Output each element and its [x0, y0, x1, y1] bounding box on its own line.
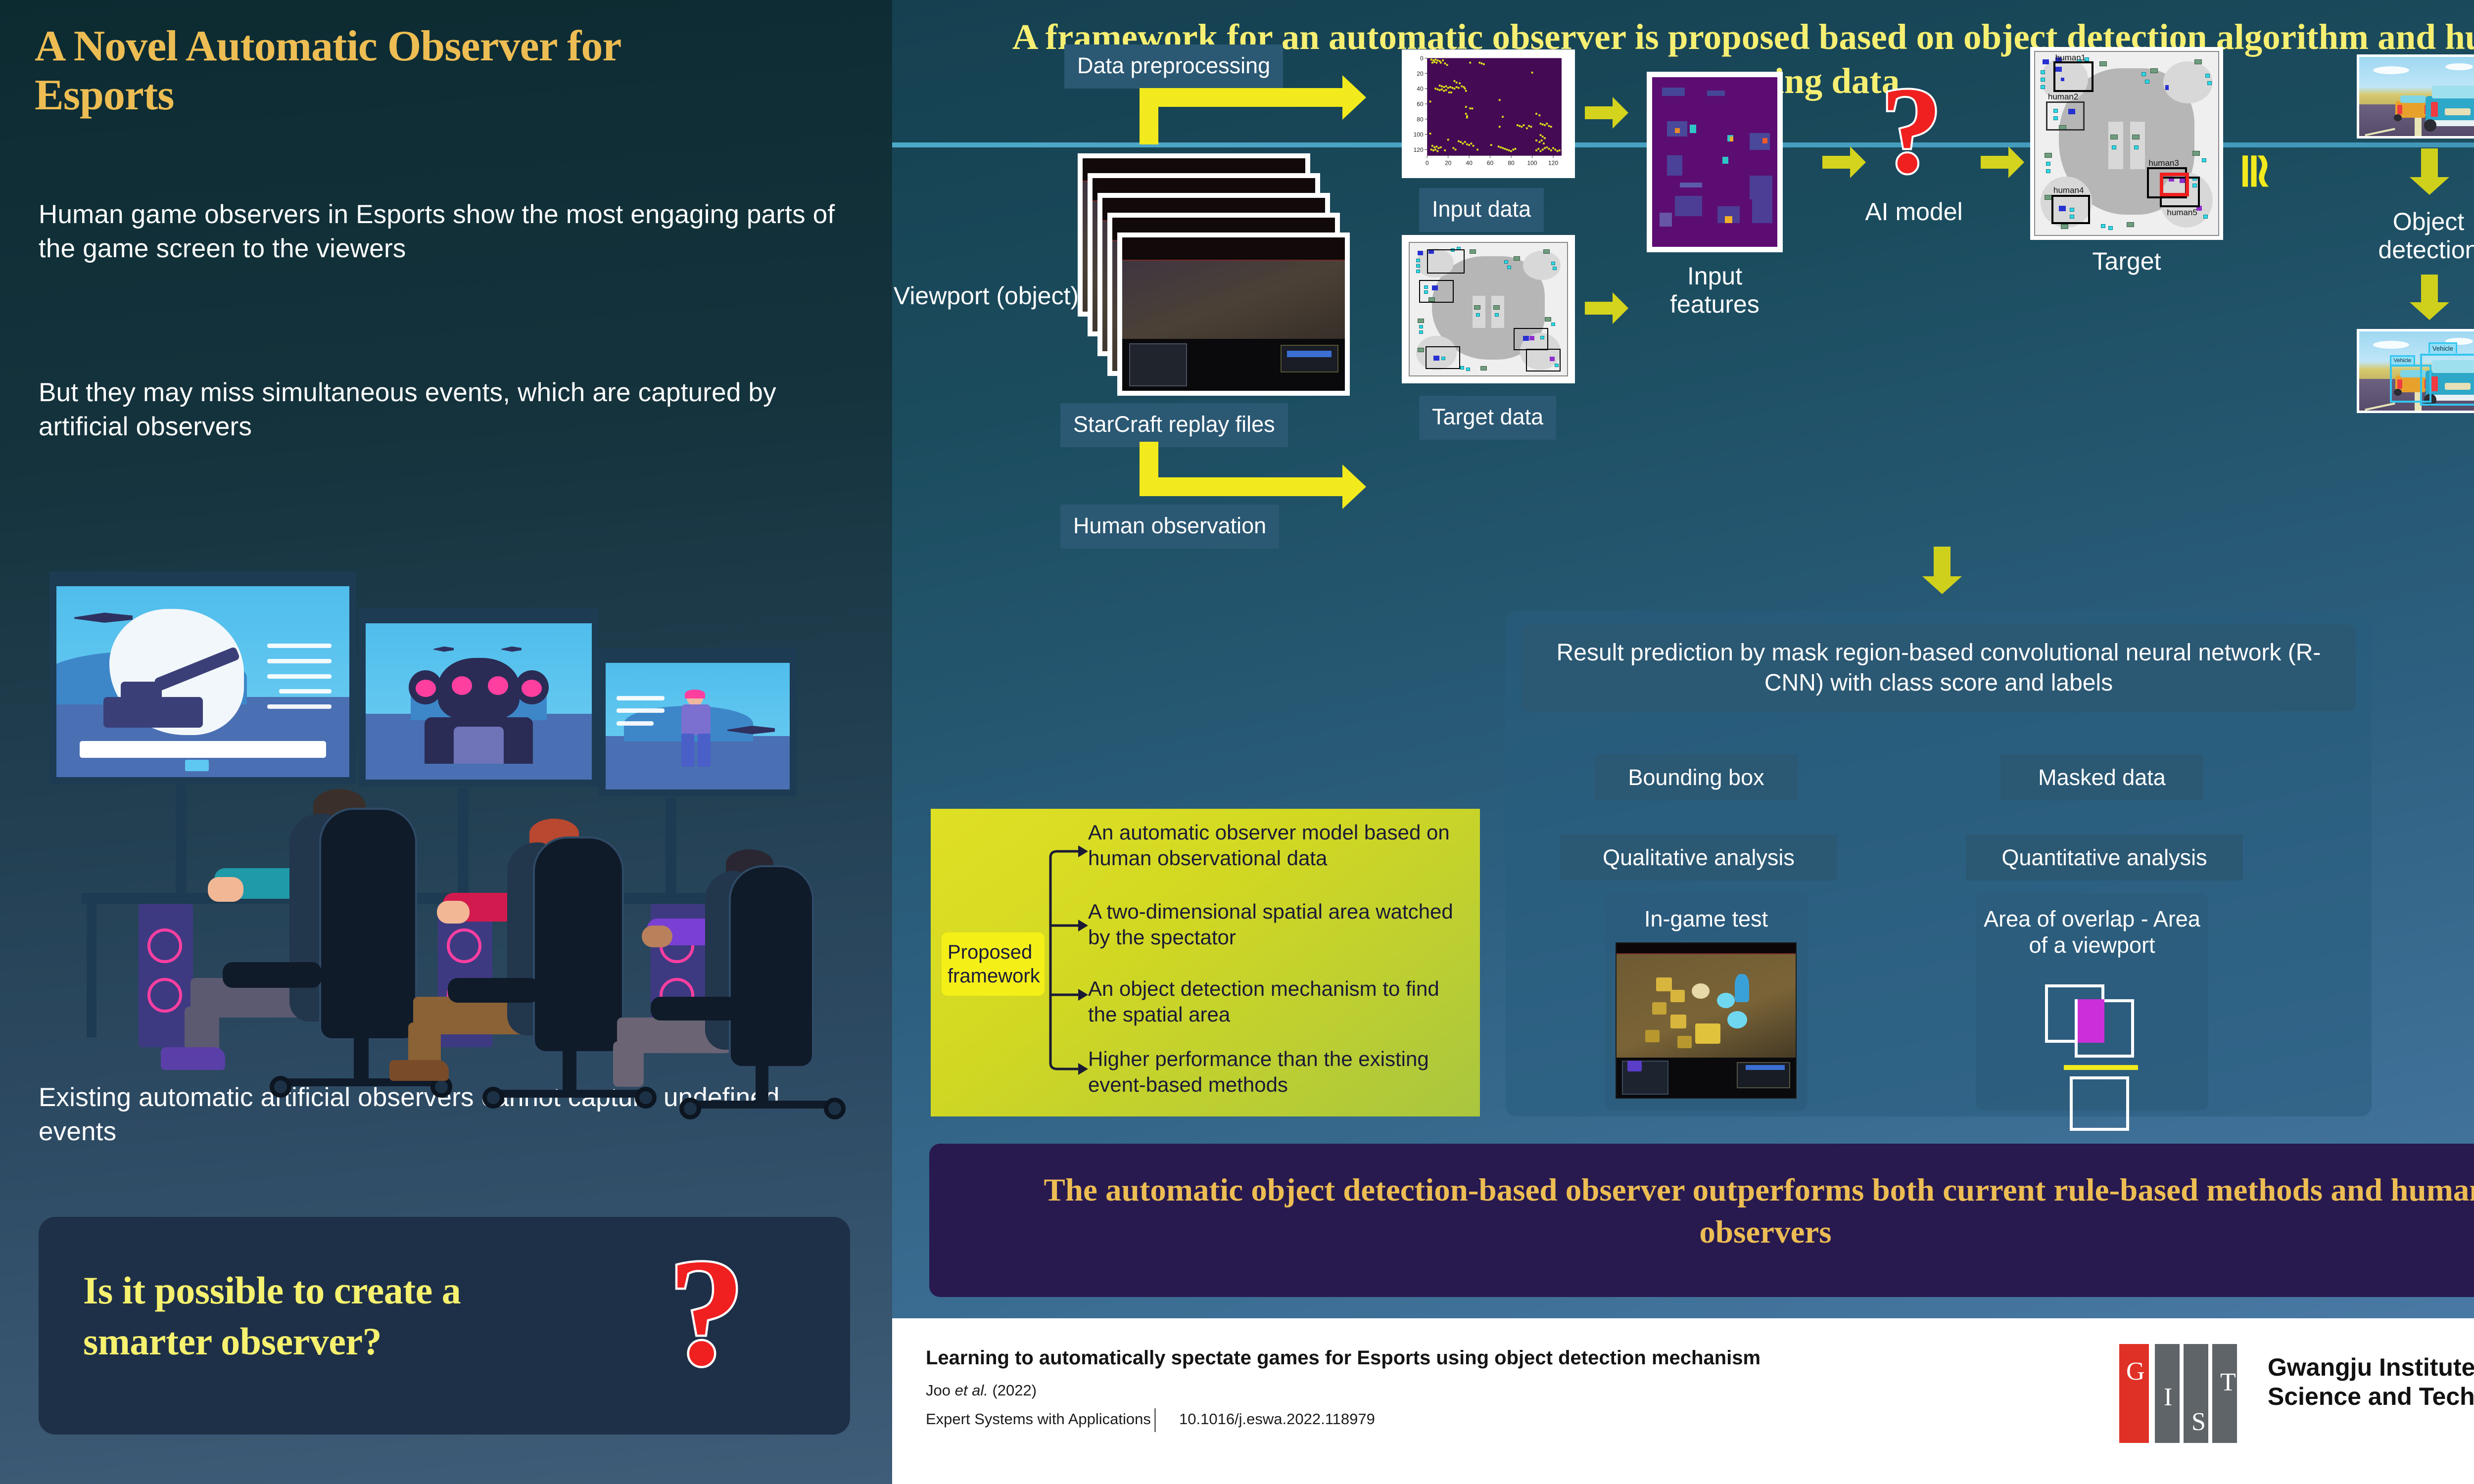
- author-year: (2022): [992, 1382, 1037, 1399]
- detection-box-large: [2420, 354, 2474, 406]
- conclusion-text: The automatic object detection-based obs…: [989, 1169, 2474, 1253]
- left-panel: A Novel Automatic Observer for Esports H…: [0, 0, 892, 1484]
- fraction-bar: [2064, 1065, 2138, 1070]
- arrow-object-detection-1: [2421, 148, 2438, 178]
- page-title: A Novel Automatic Observer for Esports: [35, 22, 678, 120]
- footer: Learning to automatically spectate games…: [892, 1318, 2474, 1484]
- svg-text:100: 100: [1527, 159, 1537, 166]
- chip-masked-data: Masked data: [2000, 754, 2203, 800]
- object-detection-label: Object detection: [2347, 208, 2474, 264]
- svg-text:60: 60: [1487, 159, 1494, 166]
- svg-text:0: 0: [1420, 55, 1424, 62]
- monitor-stand: [176, 784, 187, 893]
- left-paragraph-1: Human game observers in Esports show the…: [39, 198, 835, 266]
- bbox-human1: [2053, 61, 2093, 93]
- arrow-object-detection-2: [2421, 275, 2438, 303]
- journal-name: Expert Systems with Applications: [926, 1410, 1151, 1428]
- framework-item-2: A two-dimensional spatial area watched b…: [1088, 899, 1469, 950]
- in-game-test-panel: In-game test: [1605, 893, 1808, 1111]
- input-data-scatter-plot: 020406080100120 020406080100120: [1407, 54, 1570, 174]
- human-observation-label: Human observation: [1060, 505, 1279, 549]
- result-headline: Result prediction by mask region-based c…: [1522, 625, 2356, 711]
- target-label-human4: human4: [2053, 185, 2084, 195]
- svg-text:80: 80: [1417, 116, 1424, 123]
- input-features-frame: [1647, 72, 1783, 252]
- bbox-prediction-highlight: [2160, 173, 2189, 196]
- paper-authors: Joo et al. (2022): [926, 1382, 1037, 1399]
- arrow-to-ai-model: [1822, 156, 1851, 169]
- arrow-to-input-features-top: [1585, 106, 1614, 119]
- gist-logo-letter-s: S: [2191, 1407, 2206, 1437]
- target-label-human3: human3: [2148, 158, 2179, 168]
- gist-logo-letter-t: T: [2220, 1368, 2236, 1397]
- game-screen-3: [599, 648, 797, 796]
- svg-text:40: 40: [1417, 86, 1424, 93]
- desk-leg-left: [87, 904, 96, 1037]
- target-minimap: human1 human2 human3 human5 human4: [2034, 51, 2219, 236]
- ai-model-question-mark-icon: ?: [1877, 82, 1946, 195]
- svg-text:100: 100: [1414, 131, 1424, 138]
- question-callout: Is it possible to create a smarter obser…: [39, 1217, 850, 1435]
- author-etal: et al.: [955, 1382, 988, 1399]
- target-label-human1: human1: [2055, 53, 2086, 63]
- target-label-human2: human2: [2048, 92, 2078, 102]
- approximately-equal-icon: ≅: [2228, 151, 2283, 191]
- esports-illustration: [12, 552, 868, 1036]
- result-prediction-card: Result prediction by mask region-based c…: [1506, 611, 2372, 1116]
- conclusion-banner: The automatic object detection-based obs…: [929, 1144, 2474, 1297]
- svg-text:?: ?: [668, 1252, 745, 1396]
- proposed-framework-box: Proposed framework An automatic observer…: [931, 809, 1480, 1116]
- target-data-frame: [1402, 235, 1575, 383]
- svg-text:20: 20: [1445, 159, 1452, 166]
- target-frame: human1 human2 human3 human5 human4: [2030, 47, 2223, 240]
- arrow-to-input-features-bottom: [1585, 302, 1614, 315]
- target-data-label: Target data: [1419, 396, 1556, 440]
- gist-logo-name: Gwangju Institute of Science and Technol…: [2268, 1353, 2474, 1411]
- monitor-stand-3: [666, 798, 676, 894]
- input-data-label: Input data: [1419, 188, 1544, 232]
- gist-logo-letter-i: I: [2164, 1383, 2172, 1412]
- chip-bounding-box: Bounding box: [1595, 754, 1798, 800]
- proposed-framework-chip: Proposed framework: [942, 932, 1045, 996]
- arrow-to-result-card: [1934, 547, 1951, 577]
- framework-bracket-icon: [1046, 832, 1088, 1089]
- footer-divider: [1154, 1408, 1156, 1432]
- svg-text:20: 20: [1417, 70, 1424, 77]
- svg-text:80: 80: [1508, 159, 1515, 166]
- game-screen-2: [359, 608, 599, 787]
- input-features-label: Input features: [1644, 262, 1785, 319]
- chip-quantitative-analysis: Quantitative analysis: [1966, 835, 2243, 881]
- viewport-object-label: Viewport (object): [892, 282, 1090, 310]
- arrow-to-target: [1981, 156, 2009, 169]
- author-name: Joo: [926, 1382, 951, 1399]
- data-preprocessing-label: Data preprocessing: [1064, 45, 1283, 89]
- bbox-human4: [2051, 195, 2090, 224]
- detection-label-small: Vehicle: [2390, 355, 2415, 365]
- area-of-overlap-panel: Area of overlap - Area of a viewport: [1976, 893, 2208, 1111]
- gist-logo-letter-g: G: [2126, 1357, 2145, 1386]
- bbox-human2: [2046, 101, 2085, 131]
- framework-item-3: An object detection mechanism to find th…: [1088, 976, 1469, 1027]
- paper-title: Learning to automatically spectate games…: [926, 1347, 1760, 1369]
- monitor-stand-2: [458, 788, 469, 894]
- framework-item-1: An automatic observer model based on hum…: [1088, 820, 1469, 871]
- question-mark-icon: ?: [657, 1252, 756, 1396]
- chip-qualitative-analysis: Qualitative analysis: [1560, 835, 1837, 881]
- in-game-test-screenshot: [1616, 942, 1797, 1099]
- ai-model-label: AI model: [1852, 198, 1976, 226]
- left-paragraph-2: But they may miss simultaneous events, w…: [39, 376, 835, 444]
- svg-text:120: 120: [1414, 146, 1424, 153]
- svg-text:0: 0: [1426, 159, 1429, 166]
- overlap-diagram: [1976, 984, 2208, 1108]
- right-panel: A framework for an automatic observer is…: [892, 0, 2474, 1318]
- paper-doi: 10.1016/j.eswa.2022.118979: [1179, 1410, 1375, 1428]
- overlap-region: [2078, 999, 2104, 1043]
- svg-text:120: 120: [1548, 159, 1558, 166]
- starcraft-replay-files-label: StarCraft replay files: [1060, 403, 1288, 447]
- target-label: Target: [2077, 247, 2176, 276]
- car-blue: [2426, 84, 2474, 125]
- svg-text:?: ?: [1881, 82, 1943, 195]
- framework-item-4: Higher performance than the existing eve…: [1088, 1046, 1469, 1098]
- target-label-human5: human5: [2167, 208, 2197, 218]
- object-detection-input-photo: [2357, 54, 2474, 139]
- area-of-overlap-title: Area of overlap - Area of a viewport: [1976, 906, 2208, 958]
- input-data-plot-frame: 020406080100120 020406080100120: [1402, 49, 1575, 178]
- gist-logo: G I S T Gwangju Institute of Science and…: [2119, 1344, 2474, 1458]
- in-game-test-title: In-game test: [1605, 906, 1808, 932]
- detection-label-large: Vehicle: [2428, 342, 2457, 353]
- question-text: Is it possible to create a smarter obser…: [83, 1265, 588, 1367]
- svg-text:60: 60: [1417, 101, 1424, 108]
- object-detection-output-photo: Vehicle Vehicle: [2357, 329, 2474, 413]
- target-data-minimap: [1409, 242, 1568, 376]
- game-screen-1: [49, 571, 356, 784]
- svg-text:40: 40: [1466, 159, 1473, 166]
